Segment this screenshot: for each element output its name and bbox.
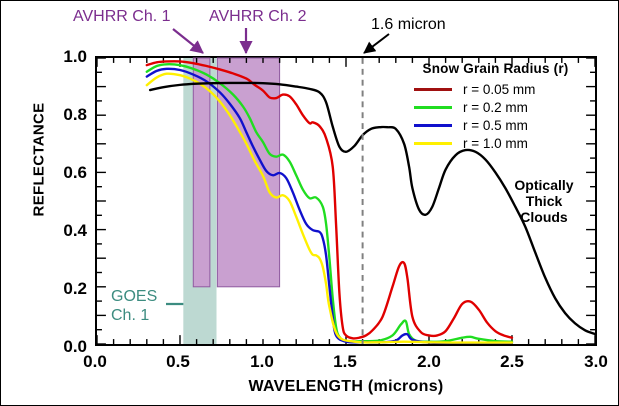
xtick-label-1p0: 1.0 [237, 353, 287, 370]
band-2 [217, 58, 279, 287]
annotation-avhrr-ch1: AVHRR Ch. 1 [73, 7, 171, 26]
band-layer [183, 58, 279, 344]
x-axis-title: WAVELENGTH (microns) [131, 378, 561, 396]
plot-svg [97, 58, 595, 344]
ytick-label-0p2: 0.2 [41, 280, 87, 297]
xtick-label-2p0: 2.0 [404, 353, 454, 370]
ytick-label-0p6: 0.6 [41, 164, 87, 181]
xtick-label-3p0: 3.0 [571, 353, 619, 370]
ytick-label-0p4: 0.4 [41, 222, 87, 239]
ytick-label-1p0: 1.0 [41, 48, 87, 65]
ytick-label-0p8: 0.8 [41, 106, 87, 123]
xtick-label-0p5: 0.5 [153, 353, 203, 370]
y-axis-title: REFLECTANCE [31, 60, 48, 260]
band-1 [193, 58, 210, 287]
xtick-label-1p5: 1.5 [320, 353, 370, 370]
tick-layer [97, 58, 595, 344]
figure-chart-snow-reflectance: AVHRR Ch. 1 AVHRR Ch. 2 1.6 micron GOES … [0, 0, 619, 406]
avhrr1-arrow [173, 29, 203, 53]
annotation-1p6-micron: 1.6 micron [371, 15, 446, 34]
annotation-avhrr-ch2: AVHRR Ch. 2 [209, 7, 307, 26]
micron16-arrow [364, 34, 389, 53]
xtick-label-2p5: 2.5 [487, 353, 537, 370]
xtick-label-0p0: 0.0 [70, 353, 120, 370]
plot-area [95, 56, 597, 346]
